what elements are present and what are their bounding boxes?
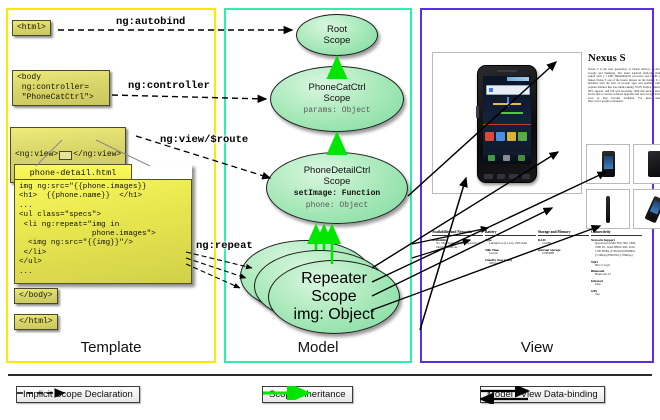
scope-phonecat-title-line2: Scope xyxy=(324,93,351,104)
view-thumbnail[interactable] xyxy=(633,189,660,229)
view-thumbnail[interactable] xyxy=(633,144,660,184)
view-phone-title: Nexus S xyxy=(588,52,626,64)
ngview-close-tag: </ng:view> xyxy=(73,150,121,160)
phone-soft-keys xyxy=(484,174,530,179)
scope-repeater-title-line2: Scope xyxy=(311,288,356,305)
phone-speaker xyxy=(497,70,517,72)
legend-label: Scope Inheritance xyxy=(262,386,353,403)
spec-value: true xyxy=(591,293,642,297)
template-note-phone-detail: phone-detail.html img ng:src="{{phone.im… xyxy=(14,164,192,284)
scope-phonecat-prop-params: params: Object xyxy=(303,106,370,116)
phone-dock-icon xyxy=(518,155,525,161)
scope-repeater-prop-img: img: Object xyxy=(294,306,375,324)
spec-column: Availability and Networks Availability 3… xyxy=(432,230,483,297)
spec-header: Availability and Networks xyxy=(432,230,483,236)
panel-label-model: Model xyxy=(224,339,412,356)
spec-value: Quad-band GSM: 850, 900, 1800, 1900 Tri-… xyxy=(591,242,642,257)
view-phone-description: Nexus S is the next generation of Nexus … xyxy=(588,68,660,104)
phone-search-widget xyxy=(486,85,530,95)
note-code: img ng:src="{{phone.images}} <h1> {{phon… xyxy=(14,179,192,284)
spec-column: Storage and Memory RAM 512MB Internal St… xyxy=(538,230,589,297)
edge-label-controller: ng:controller xyxy=(128,80,210,92)
scope-phonedetail-prop-phone: phone: Object xyxy=(306,201,368,211)
legend-item-scope-inheritance: Scope Inheritance xyxy=(262,386,353,403)
panel-label-template: Template xyxy=(6,339,216,356)
spec-header: Battery xyxy=(485,230,536,236)
legend-label: Implicit Scope Declaration xyxy=(16,386,140,403)
scope-root-title-line1: Root xyxy=(327,24,347,35)
note-title: phone-detail.html xyxy=(14,164,132,180)
legend-item-model-view-data-binding: Model / View Data-binding xyxy=(480,386,605,403)
spec-value: 512MB xyxy=(538,242,589,246)
scope-root-title-line2: Scope xyxy=(324,35,351,46)
spec-value: 16384MB xyxy=(538,252,589,256)
phone-app-icon xyxy=(485,132,494,141)
phone-wallpaper-line-blue xyxy=(507,97,509,107)
phone-screen xyxy=(483,76,531,164)
ngview-open-tag: <ng:view> xyxy=(15,150,58,160)
view-spec-table: Availability and Networks Availability 3… xyxy=(432,230,642,297)
scope-phonedetail-prop-setimage: setImage: Function xyxy=(294,189,380,199)
view-mockup: Nexus S Nexus S is the next generation o… xyxy=(430,20,644,330)
scope-phonedetailctrl: PhoneDetailCtrl Scope setImage: Function… xyxy=(266,152,408,224)
spec-value: 802.11 b/g/n xyxy=(591,264,642,268)
scope-phonecatctrl: PhoneCatCtrl Scope params: Object xyxy=(270,66,404,132)
legend-divider xyxy=(8,374,652,376)
phone-dock-icon xyxy=(503,155,510,161)
spec-column: Battery Type Lithium Ion (Li-ion) 1500 m… xyxy=(485,230,536,297)
legend-label: Model / View Data-binding xyxy=(480,386,605,403)
edge-label-autobind: ng:autobind xyxy=(116,16,185,28)
view-thumbnail[interactable] xyxy=(586,144,630,184)
spec-value: Lithium Ion (Li-ion) 1500 mAh xyxy=(485,242,536,246)
phone-side-button xyxy=(476,106,479,118)
scope-phonecat-title-line1: PhoneCatCtrl xyxy=(308,82,365,93)
phone-app-icon xyxy=(518,132,527,141)
scope-phonedetail-title-line2: Scope xyxy=(324,176,351,187)
phone-dock xyxy=(483,152,531,164)
scope-phonedetail-title-line1: PhoneDetailCtrl xyxy=(304,165,371,176)
phone-wallpaper-line-green xyxy=(501,112,523,114)
spec-value: 428 hours xyxy=(485,262,536,266)
spec-header: Storage and Memory xyxy=(538,230,589,236)
code-chip-body-close: </body> xyxy=(14,288,58,304)
code-chip-html-close: </html> xyxy=(14,314,58,330)
legend-item-implicit-scope-declaration: Implicit Scope Declaration xyxy=(16,386,140,403)
phone-app-icon xyxy=(507,132,516,141)
scope-repeater: Repeater Scope img: Object xyxy=(268,260,400,334)
phone-wallpaper-line-red xyxy=(483,124,531,125)
scope-root: Root Scope xyxy=(296,14,378,56)
scope-repeater-title-line1: Repeater xyxy=(301,270,367,287)
spec-value: false xyxy=(591,283,642,287)
spec-header: Connectivity xyxy=(591,230,642,236)
view-thumbnail-grid xyxy=(586,144,660,229)
phone-status-bar xyxy=(507,77,529,81)
phone-dock-icon xyxy=(488,155,495,161)
view-thumbnail[interactable] xyxy=(586,189,630,229)
phone-wallpaper-line-yellow xyxy=(493,103,521,105)
code-chip-html-open: <html> xyxy=(12,20,51,36)
spec-column: Connectivity Network Support Quad-band G… xyxy=(591,230,642,297)
phone-hero-image-frame xyxy=(432,52,582,194)
phone-app-row xyxy=(485,132,529,141)
phone-device-image xyxy=(477,65,537,183)
code-chip-body-open: <body ng:controller= "PhoneCatCtrl"> xyxy=(12,70,110,106)
panel-label-view: View xyxy=(420,339,654,356)
spec-value: Bluetooth 2.1 xyxy=(591,273,642,277)
ngview-placeholder-box xyxy=(59,151,72,160)
edge-label-route: ng:view/$route xyxy=(160,134,248,146)
spec-value: 3G, SK, Orange, Singtel, Spicedu, T-Mobi… xyxy=(432,242,483,250)
edge-label-repeat: ng:repeat xyxy=(196,240,253,252)
diagram-canvas: <html> <body ng:controller= "PhoneCatCtr… xyxy=(0,0,660,420)
phone-app-icon xyxy=(496,132,505,141)
spec-value: 6 hours xyxy=(485,252,536,256)
scope-repeater-stack: Repeater Scope img: Object xyxy=(240,236,410,342)
